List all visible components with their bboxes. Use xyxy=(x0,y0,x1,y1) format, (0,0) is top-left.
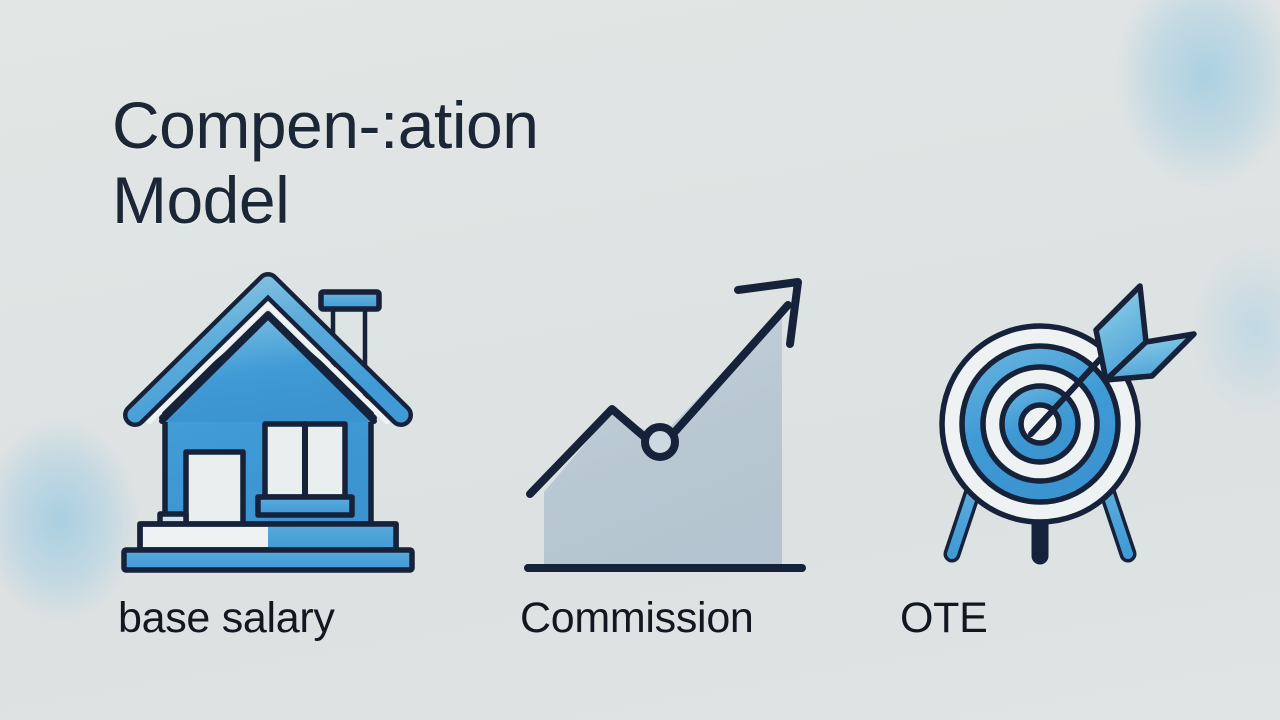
item-ote: OTE xyxy=(900,272,1180,672)
target-arrow-icon xyxy=(900,272,1180,584)
house-icon xyxy=(118,272,418,584)
item-base-salary: base salary xyxy=(118,272,418,672)
growth-chart-icon xyxy=(520,272,830,584)
item-label-commission: Commission xyxy=(520,594,830,643)
item-label-ote: OTE xyxy=(900,594,1180,643)
slide-canvas: Compen-:ation Model xyxy=(0,0,1280,720)
item-label-base-salary: base salary xyxy=(118,594,418,643)
item-commission: Commission xyxy=(520,272,830,672)
page-title: Compen-:ation Model xyxy=(112,88,752,238)
